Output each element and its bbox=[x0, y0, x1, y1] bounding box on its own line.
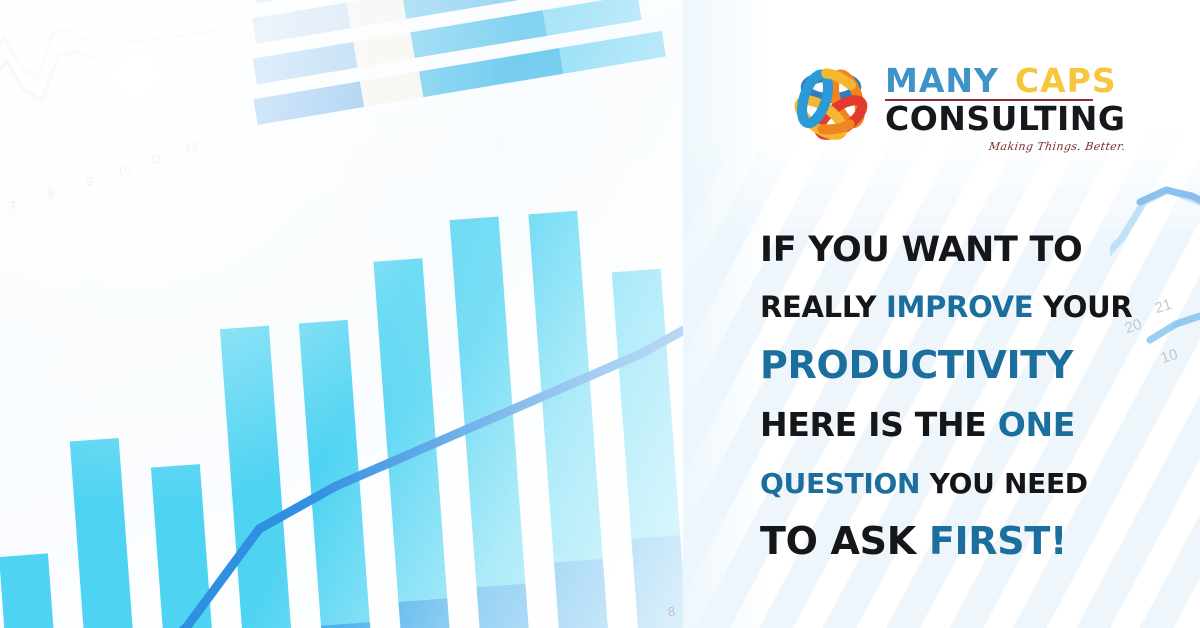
interlocking-rings-logo-mark bbox=[789, 62, 873, 146]
headline-line-2: REALLY IMPROVE YOUR bbox=[760, 278, 1180, 336]
bar-segment-upper bbox=[299, 319, 370, 625]
background-mini-line-chart bbox=[0, 0, 220, 124]
headline-block: IF YOU WANT TO REALLY IMPROVE YOUR PRODU… bbox=[760, 222, 1180, 569]
horizontal-bar-segment bbox=[252, 2, 351, 43]
logo-word-many: MANY bbox=[885, 61, 999, 100]
headline-line-2-part-a: REALLY bbox=[760, 290, 886, 324]
headline-line-1: IF YOU WANT TO bbox=[760, 222, 1180, 278]
horizontal-bar-segment bbox=[410, 10, 546, 58]
headline-line-4-part-a: HERE IS THE bbox=[760, 405, 998, 444]
bar-segment-lower bbox=[554, 559, 616, 628]
headline-line-5-part-b: YOU NEED bbox=[920, 467, 1088, 500]
horizontal-bar-segment bbox=[353, 32, 414, 67]
bar-segment-upper bbox=[151, 464, 216, 628]
axis-tick-8: 8 bbox=[47, 186, 56, 201]
bar-segment-upper bbox=[0, 554, 63, 628]
logo-line-many-caps: MANYCAPS bbox=[885, 64, 1126, 98]
headline-line-2-accent-improve: IMPROVE bbox=[886, 290, 1033, 324]
bar-column bbox=[220, 325, 301, 628]
horizontal-bar-segment bbox=[360, 71, 423, 107]
horizontal-bar-segment bbox=[543, 0, 642, 36]
bar-column bbox=[299, 319, 380, 628]
bar-segment-upper bbox=[612, 269, 680, 539]
headline-line-6: TO ASK FIRST! bbox=[760, 513, 1180, 569]
axis-tick-10: 10 bbox=[116, 162, 131, 178]
horizontal-bar-segment bbox=[559, 31, 666, 74]
bar-segment-upper bbox=[450, 216, 526, 587]
bar-segment-upper bbox=[373, 259, 447, 602]
headline-line-6-accent-first: FIRST! bbox=[929, 519, 1067, 563]
headline-line-4-accent-one: ONE bbox=[998, 405, 1075, 444]
horizontal-bar-segment bbox=[251, 0, 344, 4]
bar-column bbox=[612, 269, 683, 628]
bar-segment-upper bbox=[528, 210, 602, 562]
chart-photo-panel: 7 8 9 10 11 12 8 bbox=[0, 0, 683, 628]
bar-column bbox=[373, 259, 458, 628]
logo-tagline: Making Things. Better. bbox=[884, 140, 1126, 153]
logo-wordmark: MANYCAPS CONSULTING Making Things. Bette… bbox=[885, 58, 1126, 153]
horizontal-bar-segment bbox=[419, 48, 563, 97]
bar-column bbox=[70, 438, 143, 628]
photo-axis-tick-row: 7 8 9 10 11 12 bbox=[0, 132, 234, 217]
bar-column bbox=[0, 554, 64, 628]
bar-segment-upper bbox=[70, 438, 138, 628]
axis-tick-11: 11 bbox=[149, 151, 164, 167]
logo-word-consulting: CONSULTING bbox=[885, 101, 1126, 137]
axis-tick-7: 7 bbox=[8, 198, 17, 213]
bar-column bbox=[528, 210, 615, 628]
headline-line-5-accent-question: QUESTION bbox=[760, 467, 920, 500]
headline-line-5: QUESTION YOU NEED bbox=[760, 455, 1180, 513]
horizontal-bar-segment bbox=[347, 0, 407, 28]
brand-logo[interactable]: MANYCAPS CONSULTING Making Things. Bette… bbox=[789, 58, 1119, 164]
headline-line-6-part-a: TO ASK bbox=[760, 519, 929, 563]
bar-column bbox=[151, 464, 222, 628]
headline-line-1-text: IF YOU WANT TO bbox=[760, 230, 1082, 270]
horizontal-stacked-bars bbox=[250, 0, 683, 167]
headline-line-4: HERE IS THE ONE bbox=[760, 395, 1180, 455]
axis-tick-9: 9 bbox=[86, 174, 95, 189]
horizontal-bar-segment bbox=[253, 42, 358, 84]
horizontal-bar-segment bbox=[253, 81, 364, 124]
headline-line-3-accent-productivity: PRODUCTIVITY bbox=[760, 343, 1073, 387]
bar-segment-lower bbox=[398, 598, 458, 628]
bar-segment-lower bbox=[477, 583, 537, 628]
vertical-bar-chart bbox=[0, 172, 683, 628]
bar-column bbox=[450, 216, 537, 628]
axis-tick-12: 12 bbox=[184, 139, 199, 155]
headline-line-3: PRODUCTIVITY bbox=[760, 336, 1180, 395]
bar-segment-upper bbox=[220, 325, 293, 628]
marketing-banner: 7 8 9 10 11 12 8 20 21 10 bbox=[0, 0, 1200, 628]
logo-word-caps: CAPS bbox=[1015, 61, 1117, 100]
headline-line-2-part-c: YOUR bbox=[1033, 290, 1132, 324]
